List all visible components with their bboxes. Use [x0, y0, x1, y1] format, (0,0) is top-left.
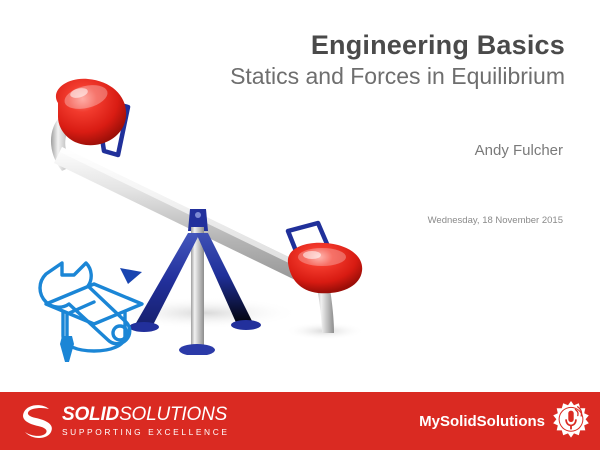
logo-tagline: SUPPORTING EXCELLENCE — [62, 427, 230, 437]
presentation-date: Wednesday, 18 November 2015 — [300, 215, 563, 226]
mysolidsolutions-badge[interactable]: MySolidSolutions — [419, 401, 592, 441]
graduation-cap-wrench-icon — [16, 244, 151, 369]
logo-brand-text: SOLIDSOLUTIONS — [62, 405, 230, 424]
title-block: Engineering Basics Statics and Forces in… — [150, 30, 565, 91]
author-name: Andy Fulcher — [300, 142, 563, 159]
s-swoosh-icon — [16, 401, 56, 441]
mysolidsolutions-label: MySolidSolutions — [419, 413, 545, 430]
logo-brand-light: SOLUTIONS — [119, 404, 227, 425]
presentation-slide: Engineering Basics Statics and Forces in… — [0, 0, 600, 450]
logo-brand-bold: SOLID — [62, 404, 119, 425]
page-title: Engineering Basics — [150, 30, 565, 61]
gear-microphone-icon — [550, 400, 592, 442]
footer-bar: SOLIDSOLUTIONS SUPPORTING EXCELLENCE MyS… — [0, 392, 600, 450]
seesaw-right-seat-group — [288, 223, 362, 333]
solid-solutions-logo: SOLIDSOLUTIONS SUPPORTING EXCELLENCE — [16, 400, 230, 442]
page-subtitle: Statics and Forces in Equilibrium — [150, 63, 565, 91]
